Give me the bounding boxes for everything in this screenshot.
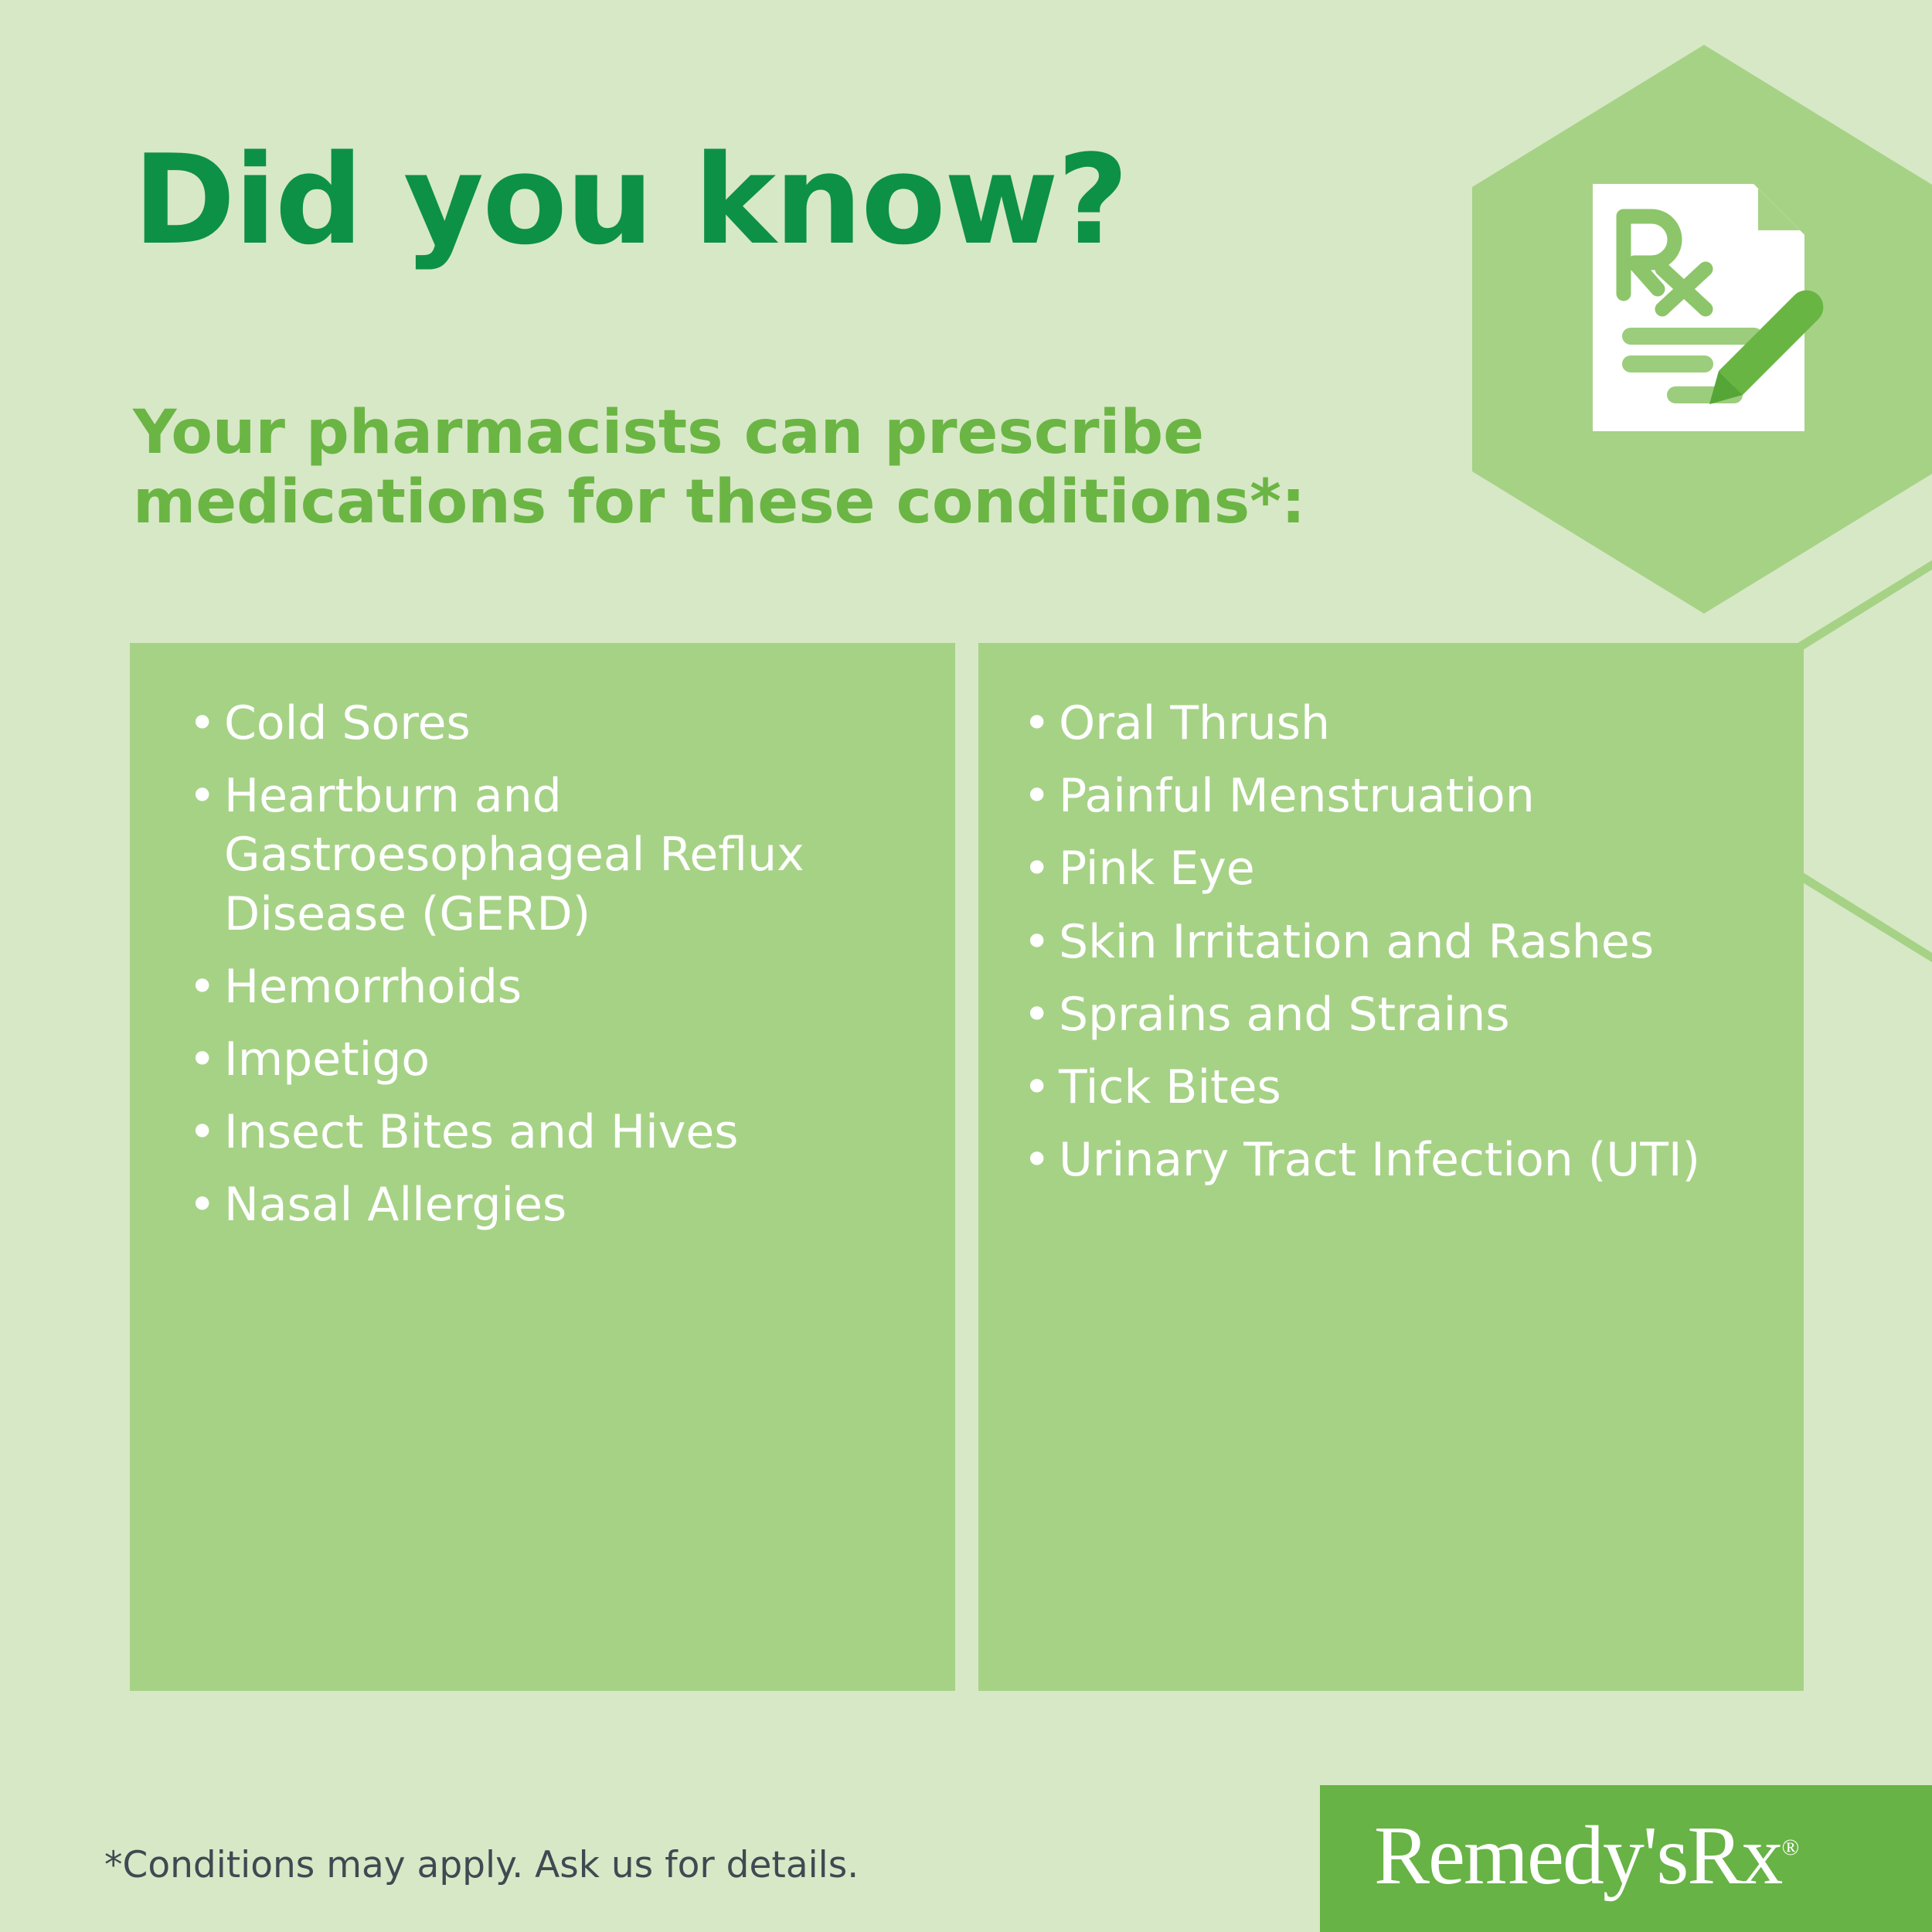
brand-logo-text: Remedy'sRx® xyxy=(1374,1808,1799,1904)
list-item: Impetigo xyxy=(189,1030,937,1089)
subtitle-line-2: medications for these conditions*: xyxy=(133,468,1292,537)
brand-name: Remedy'sRx xyxy=(1374,1810,1781,1902)
brand-logo-block: Remedy'sRx® xyxy=(1320,1785,1932,1932)
subtitle-line-1: Your pharmacists can prescribe xyxy=(133,398,1292,468)
list-item: Insect Bites and Hives xyxy=(189,1103,937,1162)
conditions-panel-right: Oral Thrush Painful Menstruation Pink Ey… xyxy=(978,643,1804,1691)
conditions-list-right: Oral Thrush Painful Menstruation Pink Ey… xyxy=(1023,694,1785,1203)
page-subtitle: Your pharmacists can prescribe medicatio… xyxy=(133,398,1292,538)
page-title: Did you know? xyxy=(133,135,1128,265)
list-item: Cold Sores xyxy=(189,694,937,753)
list-item: Pink Eye xyxy=(1023,839,1785,898)
list-item: Heartburn and Gastroesophageal Reflux Di… xyxy=(189,767,937,944)
infographic-canvas: Did you know? Your pharmacists can presc… xyxy=(0,0,1932,1932)
conditions-list-left: Cold Sores Heartburn and Gastroesophagea… xyxy=(189,694,937,1249)
conditions-panel-left: Cold Sores Heartburn and Gastroesophagea… xyxy=(130,643,955,1691)
list-item: Nasal Allergies xyxy=(189,1175,937,1234)
registered-trademark-icon: ® xyxy=(1781,1835,1799,1860)
list-item: Urinary Tract Infection (UTI) xyxy=(1023,1131,1785,1189)
prescription-document-icon xyxy=(1587,176,1842,439)
list-item: Skin Irritation and Rashes xyxy=(1023,913,1785,971)
list-item: Hemorrhoids xyxy=(189,957,937,1016)
list-item: Oral Thrush xyxy=(1023,694,1785,753)
list-item: Tick Bites xyxy=(1023,1058,1785,1117)
footnote-text: *Conditions may apply. Ask us for detail… xyxy=(104,1844,859,1886)
list-item: Sprains and Strains xyxy=(1023,985,1785,1044)
list-item: Painful Menstruation xyxy=(1023,767,1785,825)
